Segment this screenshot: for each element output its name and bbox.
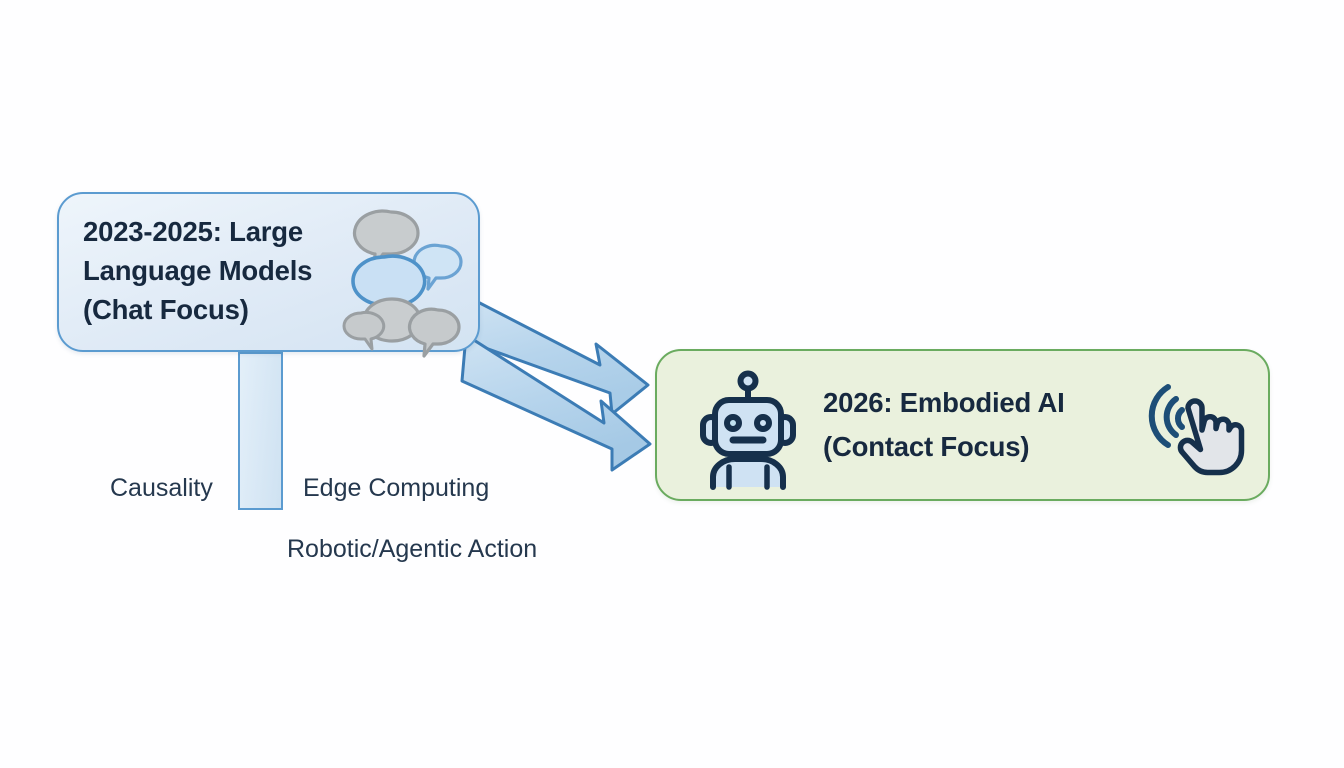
chat-bubbles-icon — [346, 200, 476, 348]
node-left-label: 2023-2025: Large Language Models (Chat F… — [83, 212, 373, 329]
node-right-label: 2026: Embodied AI (Contact Focus) — [823, 381, 1153, 469]
node-embodied-ai[interactable]: 2026: Embodied AI (Contact Focus) — [655, 349, 1270, 501]
node-large-language-models[interactable]: 2023-2025: Large Language Models (Chat F… — [57, 192, 480, 352]
label-edge-computing: Edge Computing — [303, 473, 489, 503]
robot-icon — [693, 367, 803, 487]
label-causality: Causality — [110, 473, 213, 503]
label-robotic-agentic-action: Robotic/Agentic Action — [287, 534, 537, 564]
diagram-canvas: 2023-2025: Large Language Models (Chat F… — [0, 0, 1344, 768]
left-node-post — [238, 352, 283, 510]
tap-gesture-icon — [1132, 373, 1250, 481]
